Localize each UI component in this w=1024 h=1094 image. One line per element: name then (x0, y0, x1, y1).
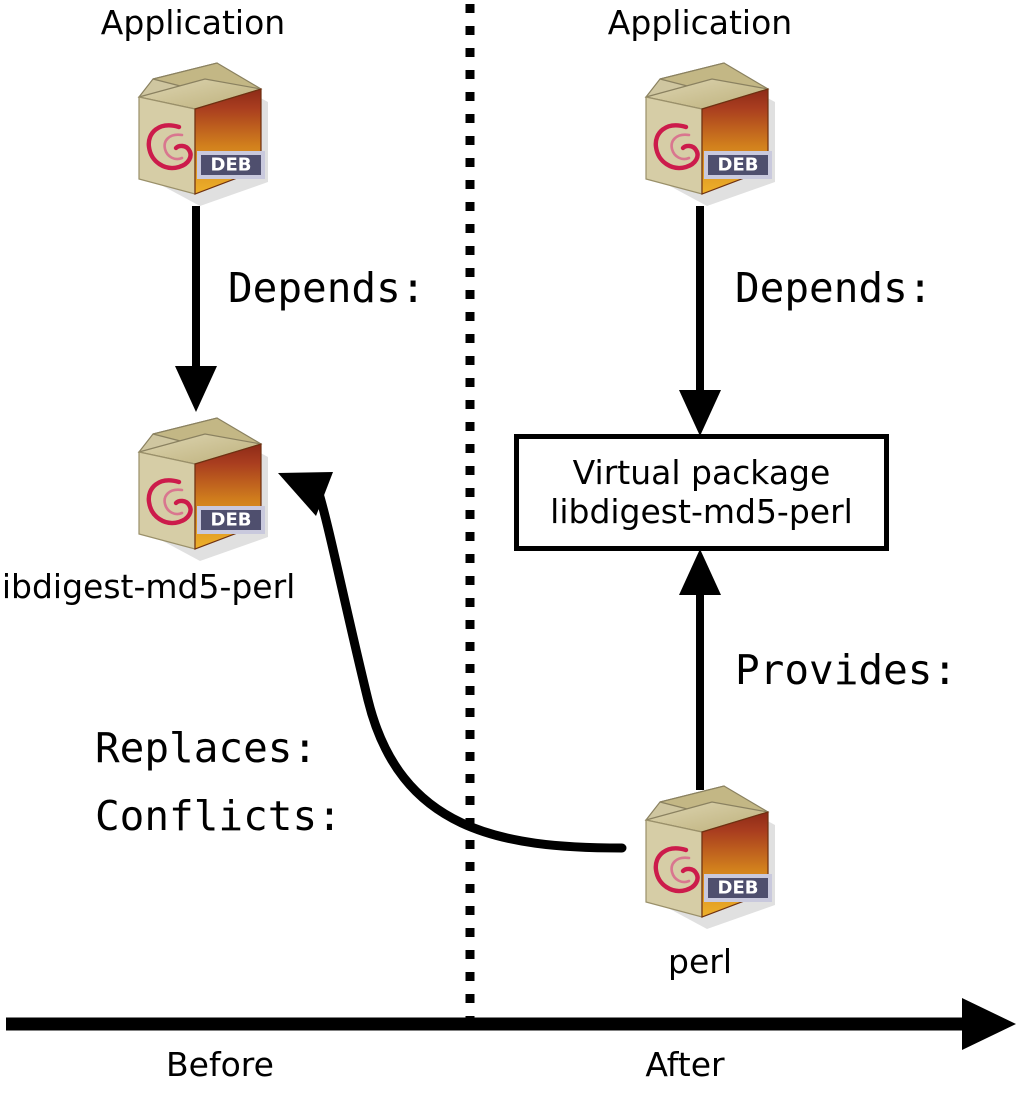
virtual-package-box: Virtual package libdigest-md5-perl (514, 434, 889, 551)
before-depends-arrow (175, 206, 217, 412)
svg-text:DEB: DEB (718, 878, 759, 899)
svg-text:DEB: DEB (718, 155, 759, 176)
timeline-before-label: Before (166, 1048, 274, 1081)
libdigest-md5-perl-label: libdigest-md5-perl (0, 570, 295, 603)
before-application-package-icon: DEB (113, 57, 273, 207)
before-libdigest-package-icon: DEB (113, 412, 273, 562)
perl-package-label: perl (668, 945, 732, 978)
before-application-label: Application (101, 6, 285, 39)
svg-text:DEB: DEB (211, 510, 252, 531)
after-depends-arrow (679, 206, 721, 436)
after-application-package-icon: DEB (620, 57, 780, 207)
svg-text:DEB: DEB (211, 155, 252, 176)
diagram-canvas: Application Application (0, 0, 1024, 1094)
deb-badge: DEB (704, 874, 772, 902)
replaces-label: Replaces: (95, 728, 317, 769)
deb-badge: DEB (197, 151, 265, 179)
after-application-label: Application (608, 6, 792, 39)
timeline-axis (6, 998, 1016, 1050)
timeline-after-label: After (645, 1048, 724, 1081)
virtual-package-line1: Virtual package (573, 454, 831, 492)
provides-arrow (679, 549, 721, 790)
before-depends-label: Depends: (228, 268, 425, 309)
conflicts-label: Conflicts: (95, 796, 342, 837)
virtual-package-line2: libdigest-md5-perl (550, 493, 853, 531)
provides-label: Provides: (735, 650, 957, 691)
deb-badge: DEB (197, 506, 265, 534)
deb-badge: DEB (704, 151, 772, 179)
after-depends-label: Depends: (735, 268, 932, 309)
after-perl-package-icon: DEB (620, 780, 780, 930)
